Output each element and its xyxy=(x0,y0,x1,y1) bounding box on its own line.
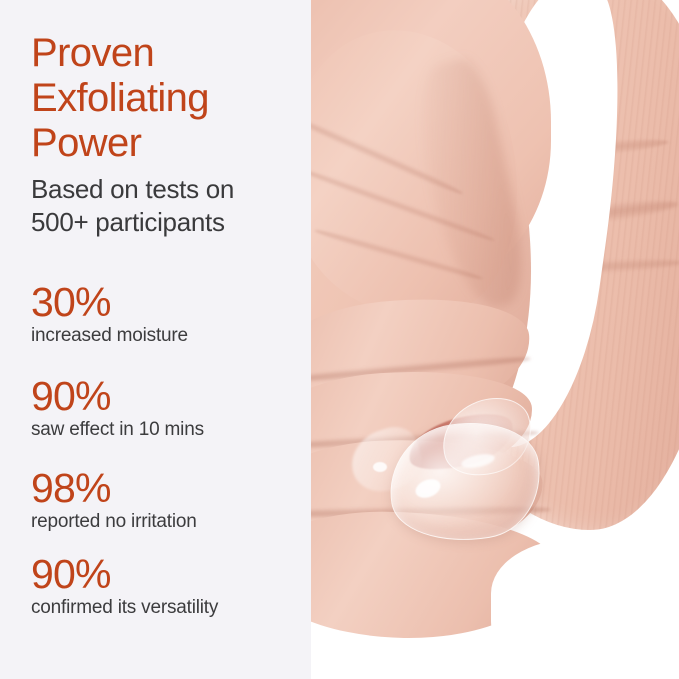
stat-item: 90% confirmed its versatility xyxy=(31,553,218,620)
stat-value: 30% xyxy=(31,281,188,323)
background-white xyxy=(491,539,679,679)
stat-item: 30% increased moisture xyxy=(31,281,188,348)
stat-label: increased moisture xyxy=(31,324,188,348)
stat-value: 90% xyxy=(31,553,218,595)
stat-item: 98% reported no irritation xyxy=(31,467,197,534)
subheadline: Based on tests on 500+ participants xyxy=(31,173,303,239)
text-panel: Proven Exfoliating Power Based on tests … xyxy=(0,0,311,679)
stat-label: reported no irritation xyxy=(31,510,197,534)
stat-label: confirmed its versatility xyxy=(31,596,218,620)
product-photo xyxy=(311,0,679,679)
headline: Proven Exfoliating Power xyxy=(31,31,301,166)
stat-label: saw effect in 10 mins xyxy=(31,418,204,442)
stat-item: 90% saw effect in 10 mins xyxy=(31,375,204,442)
stat-value: 90% xyxy=(31,375,204,417)
gel-pad-highlight xyxy=(373,462,387,472)
stat-value: 98% xyxy=(31,467,197,509)
product-infographic: Proven Exfoliating Power Based on tests … xyxy=(0,0,679,679)
